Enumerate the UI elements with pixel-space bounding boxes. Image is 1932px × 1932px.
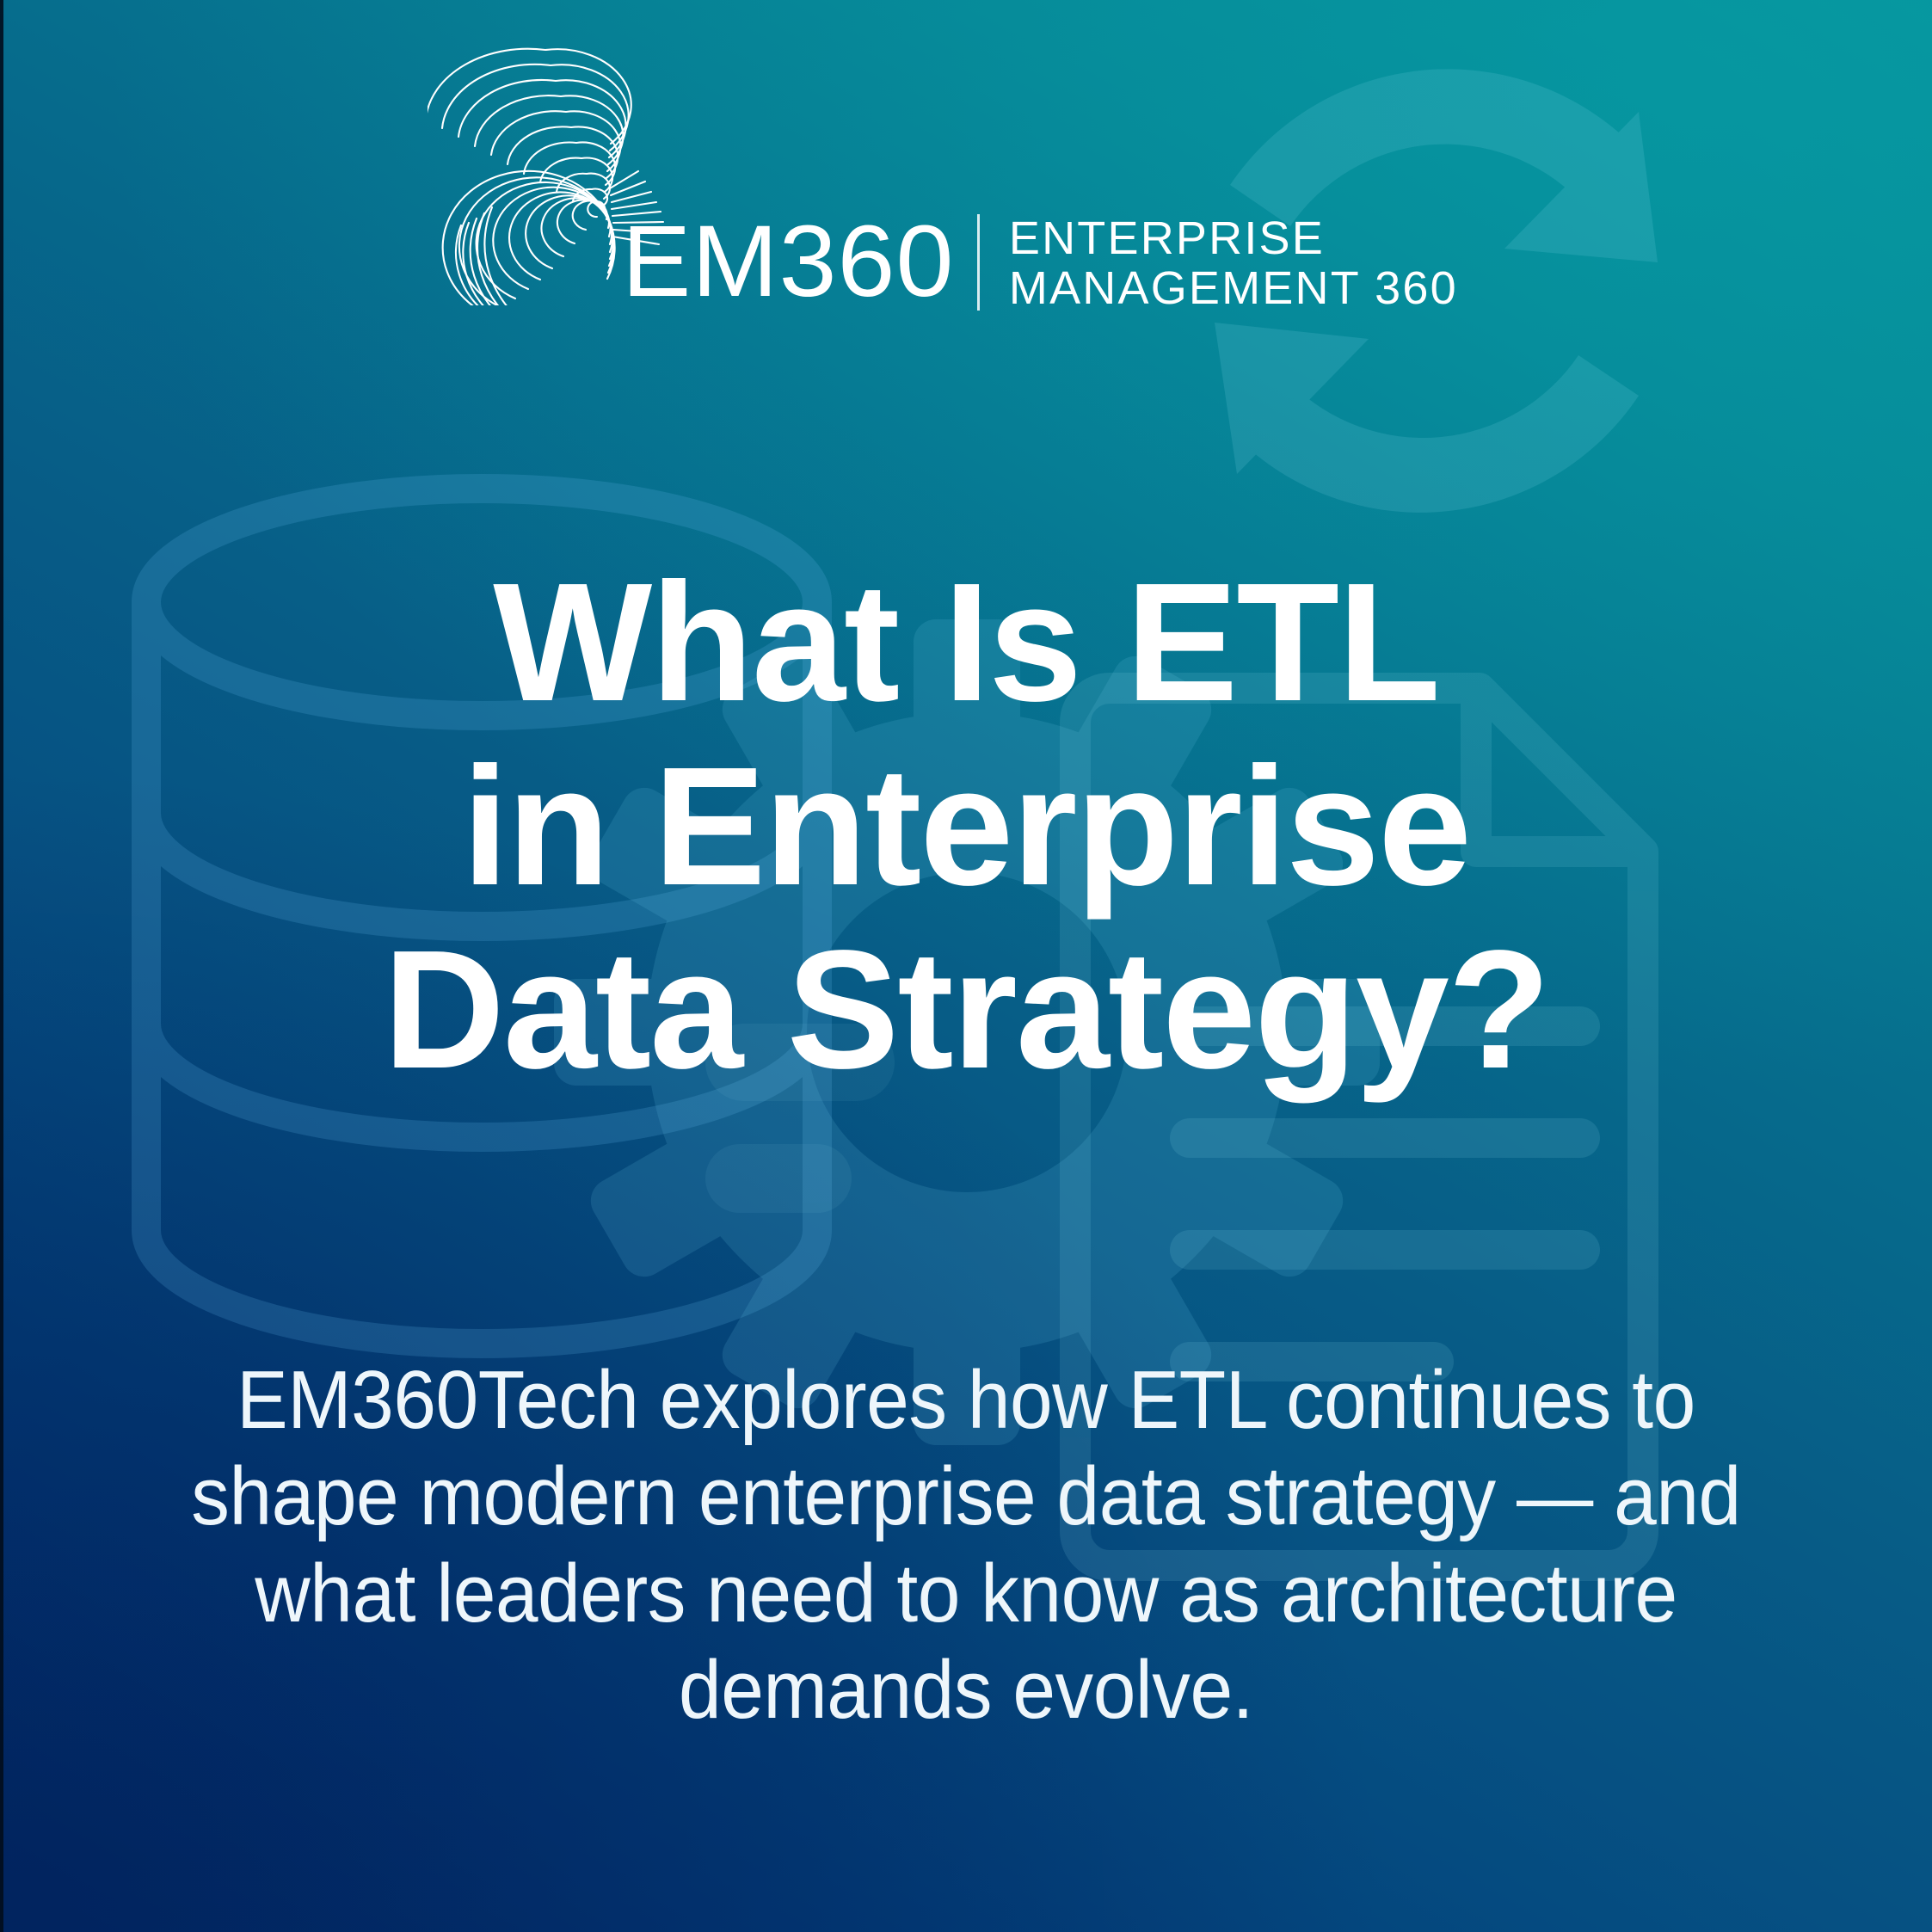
headline-line-3: Data Strategy? <box>103 918 1829 1102</box>
social-card: EM360 ENTERPRISE MANAGEMENT 360 What Is … <box>0 0 1932 1932</box>
wordmark-text: EM360 <box>622 211 954 312</box>
headline-line-2: in Enterprise <box>103 735 1829 919</box>
em360-wordmark: EM360 ENTERPRISE MANAGEMENT 360 <box>622 211 1458 314</box>
left-edge-strip <box>0 0 3 1932</box>
headline-line-1: What Is ETL <box>103 551 1829 735</box>
brand-tagline: ENTERPRISE MANAGEMENT 360 <box>1009 214 1458 314</box>
em360-logo[interactable]: EM360 ENTERPRISE MANAGEMENT 360 <box>428 47 1511 361</box>
subtitle-text: EM360Tech explores how ETL continues to … <box>124 1352 1809 1738</box>
tagline-line-2: MANAGEMENT 360 <box>1009 264 1458 314</box>
page-title: What Is ETL in Enterprise Data Strategy? <box>103 551 1829 1102</box>
tagline-line-1: ENTERPRISE <box>1009 214 1458 264</box>
wordmark-divider <box>977 214 980 311</box>
